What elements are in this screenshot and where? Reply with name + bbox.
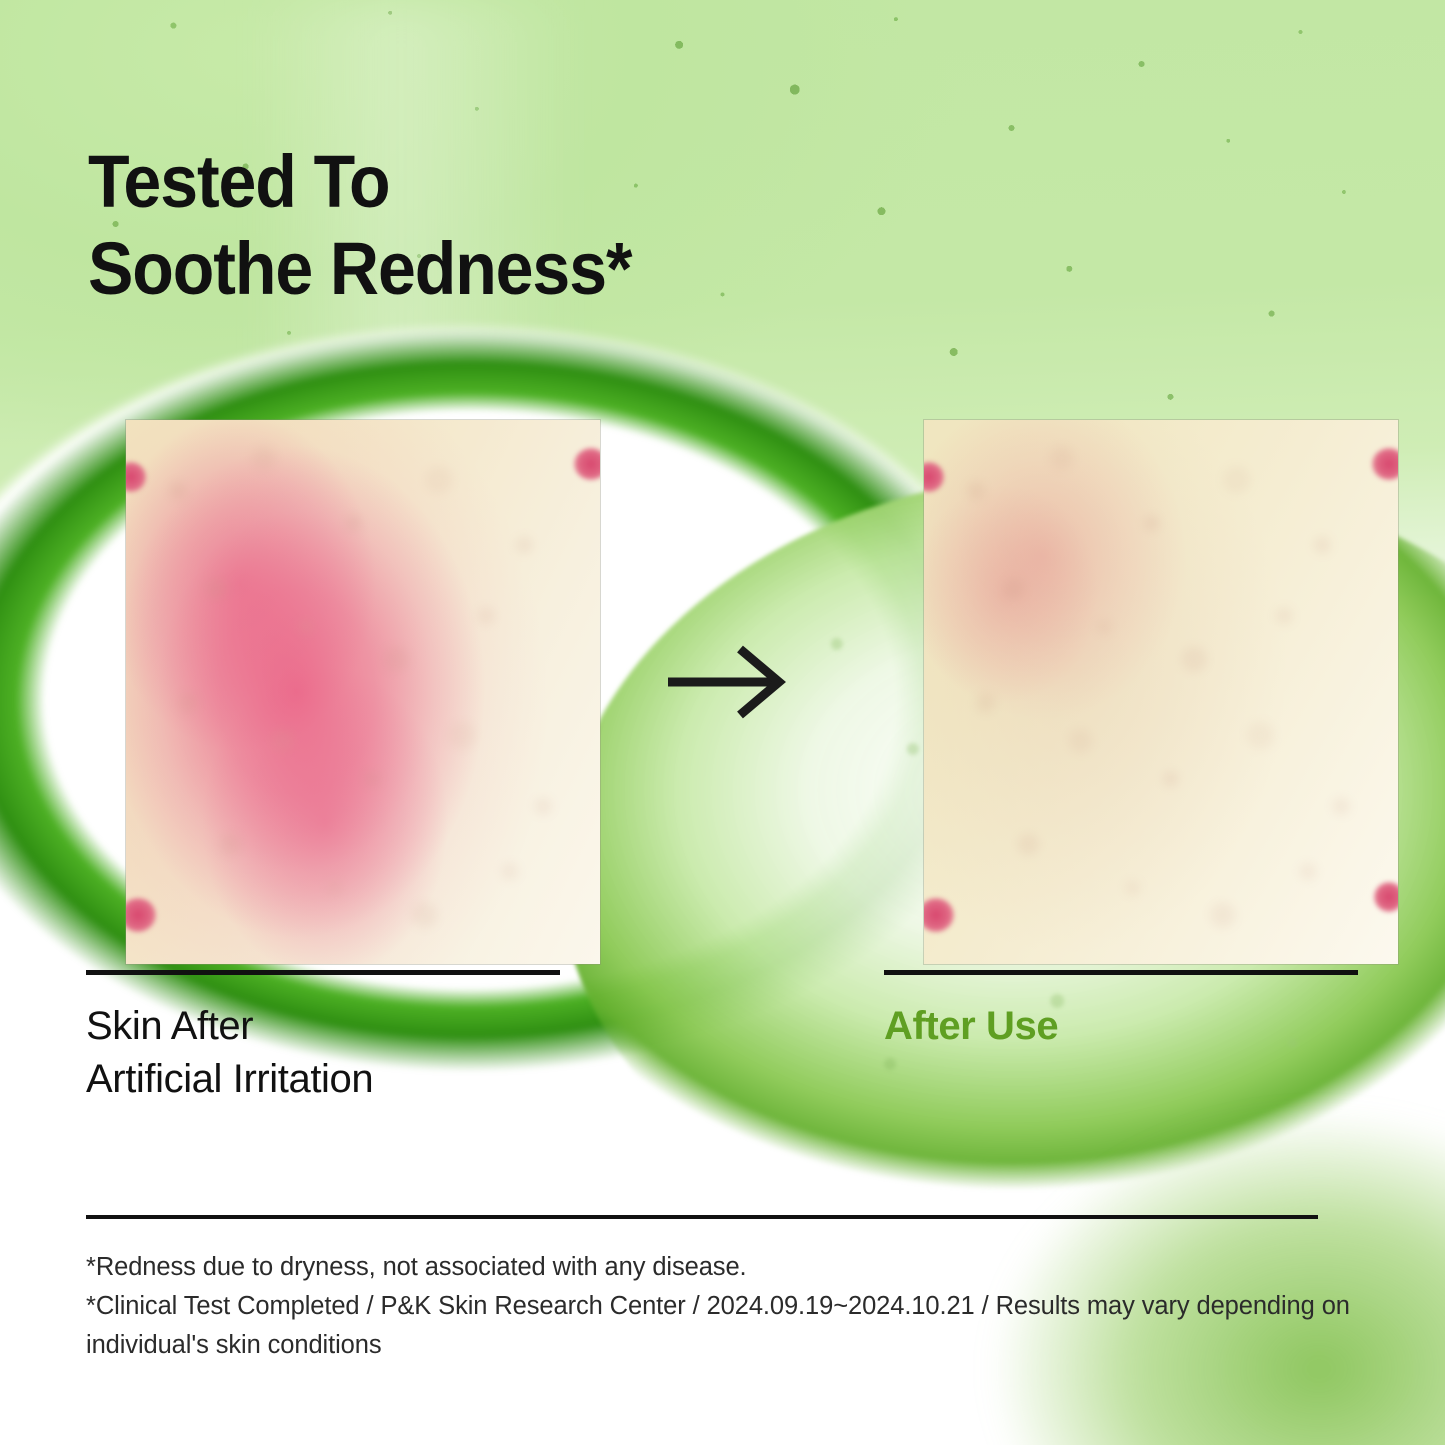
headline-title: Tested To Soothe Redness* [88, 138, 842, 313]
skin-mark-icon [574, 448, 600, 480]
skin-mark-icon [1372, 448, 1398, 480]
gel-corner-wash [885, 1005, 1445, 1445]
before-photo [126, 420, 600, 964]
skin-grain-layer [924, 420, 1398, 964]
promo-banner: Tested To Soothe Redness* Skin After Art… [0, 0, 1445, 1445]
after-caption-label: After Use [884, 1000, 1384, 1053]
skin-mark-icon [1374, 882, 1398, 912]
footnotes-block: *Redness due to dryness, not associated … [86, 1248, 1356, 1364]
footer-divider [86, 1215, 1318, 1219]
before-caption-label: Skin After Artificial Irritation [86, 1000, 646, 1106]
footnote-line: *Redness due to dryness, not associated … [86, 1248, 1356, 1287]
before-caption-rule [86, 970, 560, 975]
after-photo [924, 420, 1398, 964]
after-caption-rule [884, 970, 1358, 975]
footnote-line: *Clinical Test Completed / P&K Skin Rese… [86, 1287, 1356, 1365]
arrow-right-icon [664, 642, 794, 722]
skin-grain-layer [126, 420, 600, 964]
